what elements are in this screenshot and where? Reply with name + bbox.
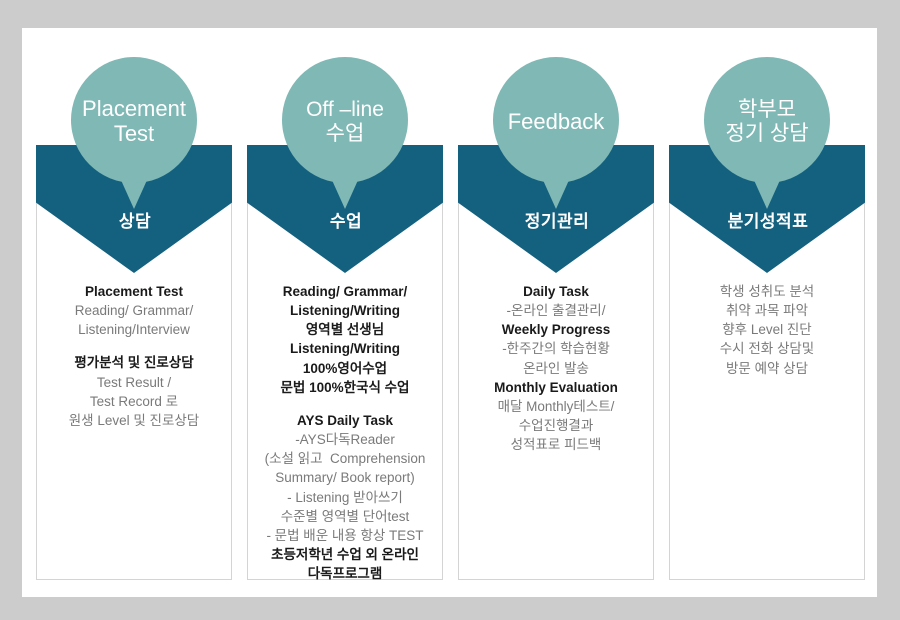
body-line: 100%영어수업 [252,359,438,378]
body-line: 학생 성취도 분석 [674,282,860,301]
body-line: Test Record 로 [41,392,227,411]
body-line: 온라인 발송 [463,359,649,378]
pin-label: Feedback [493,57,619,183]
body-line: Listening/Writing [252,339,438,358]
body-line: Placement Test [41,282,227,301]
body-line: -AYS다독Reader [252,430,438,449]
process-columns: 상담Placement TestPlacement TestReading/ G… [36,145,877,580]
column-body: Reading/ Grammar/Listening/Writing영역별 선생… [252,282,438,583]
infographic-page: 상담Placement TestPlacement TestReading/ G… [22,28,877,597]
body-line: Daily Task [463,282,649,301]
body-line: -온라인 출결관리/ [463,301,649,320]
body-line: Summary/ Book report) [252,468,438,487]
body-line: 초등저학년 수업 외 온라인 [252,545,438,564]
spacer [41,339,227,353]
body-line: 영역별 선생님 [252,320,438,339]
spacer [252,397,438,411]
body-line: -한주간의 학습현황 [463,339,649,358]
body-line: 원생 Level 및 진로상담 [41,411,227,430]
body-line: 향후 Level 진단 [674,320,860,339]
process-column-3: 정기관리FeedbackDaily Task-온라인 출결관리/Weekly P… [458,145,654,580]
body-line: 문법 100%한국식 수업 [252,378,438,397]
body-line: - 문법 배운 내용 항상 TEST [252,526,438,545]
pin-label: Off –line 수업 [282,57,408,183]
body-line: - Listening 받아쓰기 [252,488,438,507]
body-line: 성적표로 피드백 [463,435,649,454]
map-pin-icon: Feedback [493,57,619,209]
map-pin-icon: 학부모 정기 상담 [704,57,830,209]
process-column-4: 분기성적표학부모 정기 상담학생 성취도 분석취약 과목 파악향후 Level … [669,145,865,580]
body-line: 수준별 영역별 단어test [252,507,438,526]
map-pin-icon: Off –line 수업 [282,57,408,209]
body-line: Reading/ Grammar/ [252,282,438,301]
body-line: Listening/Interview [41,320,227,339]
pin-label: Placement Test [71,57,197,183]
body-line: 방문 예약 상담 [674,359,860,378]
process-column-1: 상담Placement TestPlacement TestReading/ G… [36,145,232,580]
chevron-label: 분기성적표 [670,207,866,232]
body-line: 다독프로그램 [252,564,438,583]
pin-label: 학부모 정기 상담 [704,57,830,183]
column-body: Placement TestReading/ Grammar/Listening… [41,282,227,430]
column-body: Daily Task-온라인 출결관리/Weekly Progress-한주간의… [463,282,649,454]
body-line: Monthly Evaluation [463,378,649,397]
column-body: 학생 성취도 분석취약 과목 파악향후 Level 진단수시 전화 상담및방문 … [674,282,860,378]
map-pin-icon: Placement Test [71,57,197,209]
body-line: Listening/Writing [252,301,438,320]
body-line: 수업진행결과 [463,416,649,435]
body-line: 매달 Monthly테스트/ [463,397,649,416]
chevron-label: 수업 [248,207,444,232]
body-line: AYS Daily Task [252,411,438,430]
body-line: Weekly Progress [463,320,649,339]
chevron-label: 정기관리 [459,207,655,232]
body-line: Test Result / [41,373,227,392]
body-line: (소설 읽고 Comprehension [252,449,438,468]
chevron-label: 상담 [37,207,233,232]
body-line: 평가분석 및 진로상담 [41,353,227,372]
body-line: Reading/ Grammar/ [41,301,227,320]
body-line: 취약 과목 파악 [674,301,860,320]
process-column-2: 수업Off –line 수업Reading/ Grammar/Listening… [247,145,443,580]
body-line: 수시 전화 상담및 [674,339,860,358]
